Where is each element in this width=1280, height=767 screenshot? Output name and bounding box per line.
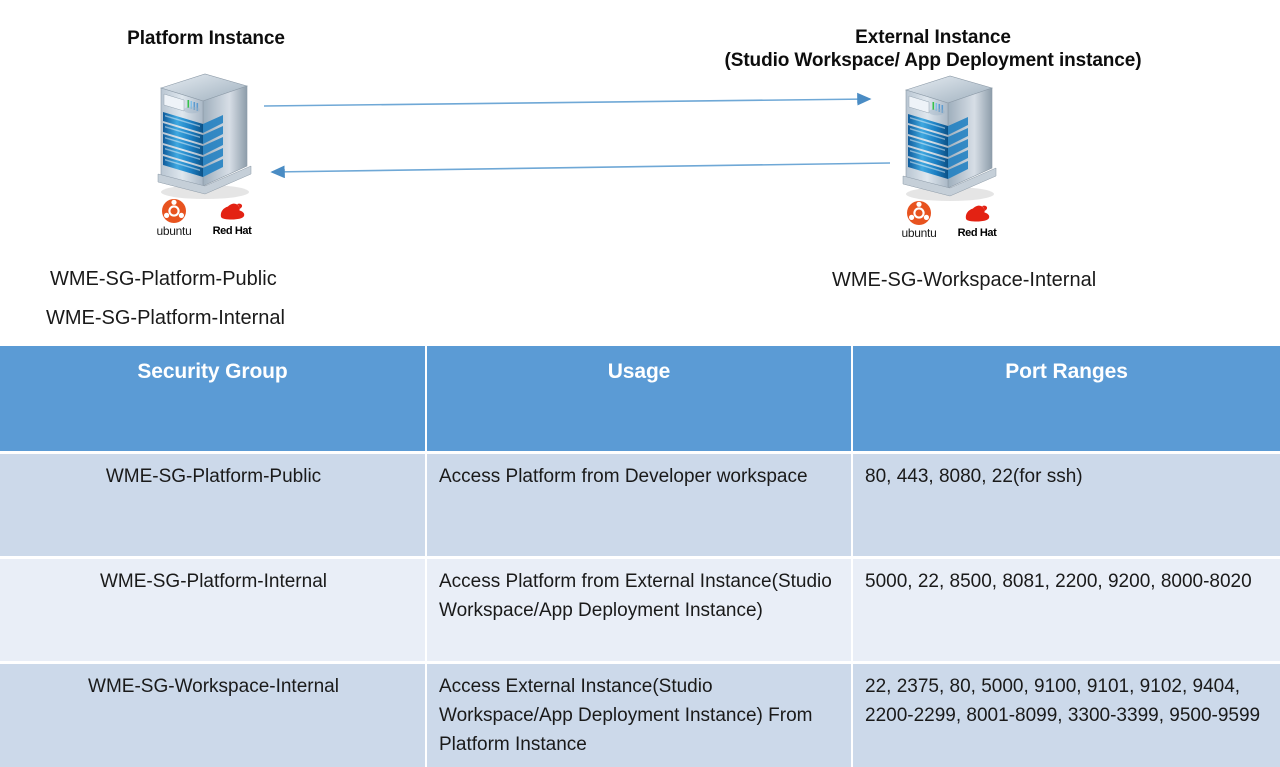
ubuntu-logo: ubuntu xyxy=(894,200,944,239)
platform-public-sg-label: WME-SG-Platform-Public xyxy=(50,267,277,291)
ubuntu-logo-icon xyxy=(161,198,187,224)
external-os-logos: ubuntu Red Hat xyxy=(888,200,1008,246)
redhat-logo-label: Red Hat xyxy=(207,225,257,237)
cell-port-ranges: 22, 2375, 80, 5000, 9100, 9101, 9102, 94… xyxy=(852,663,1280,767)
arrow-external-to-platform xyxy=(272,163,890,172)
cell-port-ranges: 5000, 22, 8500, 8081, 2200, 9200, 8000-8… xyxy=(852,558,1280,663)
cell-security-group: WME-SG-Platform-Public xyxy=(0,453,426,558)
server-tower-icon xyxy=(143,70,263,200)
table-row: WME-SG-Workspace-Internal Access Externa… xyxy=(0,663,1280,767)
architecture-diagram: Platform Instance External Instance (Stu… xyxy=(0,0,1280,346)
external-instance-title-line1: External Instance xyxy=(660,26,1206,49)
cell-usage: Access Platform from External Instance(S… xyxy=(426,558,852,663)
redhat-logo-label: Red Hat xyxy=(952,227,1002,239)
redhat-logo-icon xyxy=(960,200,994,226)
platform-os-logos: ubuntu Red Hat xyxy=(143,198,263,244)
cell-security-group: WME-SG-Workspace-Internal xyxy=(0,663,426,767)
cell-usage: Access External Instance(Studio Workspac… xyxy=(426,663,852,767)
cell-security-group: WME-SG-Platform-Internal xyxy=(0,558,426,663)
ubuntu-logo-icon xyxy=(906,200,932,226)
table-row: WME-SG-Platform-Public Access Platform f… xyxy=(0,453,1280,558)
table-row: WME-SG-Platform-Internal Access Platform… xyxy=(0,558,1280,663)
redhat-logo: Red Hat xyxy=(207,198,257,237)
security-groups-table: Security Group Usage Port Ranges WME-SG-… xyxy=(0,346,1280,767)
redhat-logo: Red Hat xyxy=(952,200,1002,239)
arrow-platform-to-external xyxy=(264,99,870,106)
external-server-graphic: ubuntu Red Hat xyxy=(888,72,1008,247)
platform-server-graphic: ubuntu Red Hat xyxy=(143,70,263,245)
column-header-usage: Usage xyxy=(426,346,852,453)
server-tower-icon xyxy=(888,72,1008,202)
column-header-security-group: Security Group xyxy=(0,346,426,453)
cell-usage: Access Platform from Developer workspace xyxy=(426,453,852,558)
ubuntu-logo-label: ubuntu xyxy=(149,225,199,237)
platform-instance-title: Platform Instance xyxy=(80,27,332,50)
workspace-internal-sg-label: WME-SG-Workspace-Internal xyxy=(832,268,1096,292)
external-instance-title: External Instance (Studio Workspace/ App… xyxy=(660,26,1206,72)
platform-internal-sg-label: WME-SG-Platform-Internal xyxy=(46,306,285,330)
table-header-row: Security Group Usage Port Ranges xyxy=(0,346,1280,453)
cell-port-ranges: 80, 443, 8080, 22(for ssh) xyxy=(852,453,1280,558)
external-instance-title-line2: (Studio Workspace/ App Deployment instan… xyxy=(660,49,1206,72)
redhat-logo-icon xyxy=(215,198,249,224)
ubuntu-logo-label: ubuntu xyxy=(894,227,944,239)
platform-instance-title-text: Platform Instance xyxy=(127,28,285,49)
ubuntu-logo: ubuntu xyxy=(149,198,199,237)
column-header-port-ranges: Port Ranges xyxy=(852,346,1280,453)
